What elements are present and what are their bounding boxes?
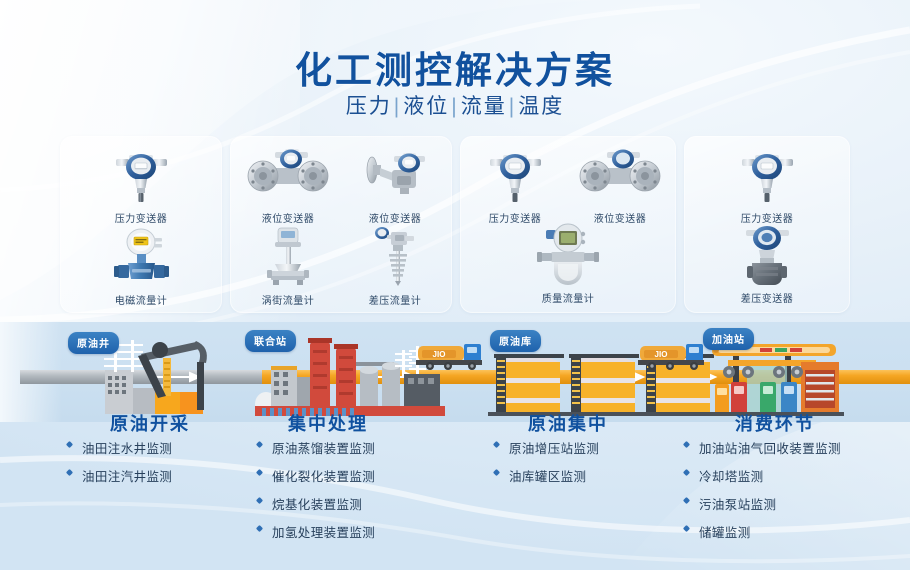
stage-title-collection: 原油集中 — [478, 410, 658, 436]
subtitle-part-pressure: 压力 — [346, 95, 392, 118]
list-item-label: 油田注水井监测 — [82, 438, 172, 457]
list-item[interactable]: 原油蒸馏装置监测 — [256, 438, 375, 457]
product-card-2[interactable]: 液位变送器 — [230, 136, 452, 313]
list-item[interactable]: 储罐监测 — [683, 522, 841, 541]
vortex-flowmeter-icon — [238, 226, 338, 288]
list-item[interactable]: 油田注汽井监测 — [66, 466, 172, 485]
stage-title-extraction: 原油开采 — [60, 410, 240, 436]
product-card-3[interactable]: 压力变送器 — [460, 136, 676, 313]
list-item[interactable]: 油库罐区监测 — [493, 466, 599, 485]
diamond-bullet-icon — [66, 441, 75, 450]
list-item-label: 原油蒸馏装置监测 — [272, 438, 375, 457]
process-flow-illustration: JIO — [0, 322, 910, 422]
pressure-transmitter-icon — [717, 144, 817, 206]
level-transmitter-remote-icon — [345, 144, 445, 206]
diamond-bullet-icon — [256, 525, 265, 534]
stage-badge-gas-station: 加油站 — [703, 328, 754, 350]
pressure-transmitter-icon — [465, 144, 565, 206]
tanker-label: JIO — [655, 350, 668, 359]
product-name: 差压流量计 — [345, 292, 445, 307]
list-item-label: 原油增压站监测 — [509, 438, 599, 457]
list-item-label: 催化裂化装置监测 — [272, 466, 375, 485]
product-vortex-flowmeter[interactable]: 涡街流量计 — [238, 226, 338, 307]
stage-items-processing: 原油蒸馏装置监测 催化裂化装置监测 烷基化装置监测 加氢处理装置监测 — [256, 438, 375, 550]
product-name: 液位变送器 — [345, 210, 445, 225]
list-item[interactable]: 污油泵站监测 — [683, 494, 841, 513]
subtitle-separator: | — [507, 95, 518, 118]
product-differential-pressure-flowmeter[interactable]: 差压流量计 — [345, 226, 445, 307]
list-item-label: 污油泵站监测 — [699, 494, 776, 513]
diamond-bullet-icon — [683, 525, 692, 534]
list-item[interactable]: 原油增压站监测 — [493, 438, 599, 457]
product-name: 压力变送器 — [91, 210, 191, 225]
diamond-bullet-icon — [493, 441, 502, 450]
product-card-4[interactable]: 压力变送器 — [684, 136, 850, 313]
diamond-bullet-icon — [256, 497, 265, 506]
stage-title-consumption: 消费环节 — [685, 410, 865, 436]
diamond-bullet-icon — [256, 441, 265, 450]
product-pressure-transmitter[interactable]: 压力变送器 — [717, 144, 817, 225]
level-transmitter-flanged-icon — [238, 144, 338, 206]
product-name: 差压变送器 — [717, 290, 817, 305]
product-level-transmitter-remote[interactable]: 液位变送器 — [345, 144, 445, 225]
differential-pressure-transmitter-icon — [717, 224, 817, 286]
mass-flowmeter-icon — [518, 224, 618, 286]
list-item-label: 油田注汽井监测 — [82, 466, 172, 485]
subtitle-separator: | — [392, 95, 403, 118]
product-card-1[interactable]: 压力变送器 — [60, 136, 222, 313]
list-item[interactable]: 油田注水井监测 — [66, 438, 172, 457]
subtitle-part-level: 液位 — [403, 95, 449, 118]
stage-badge-union-station: 联合站 — [245, 330, 296, 352]
product-level-transmitter-flanged[interactable]: 液位变送器 — [238, 144, 338, 225]
list-item-label: 加油站油气回收装置监测 — [699, 438, 841, 457]
diamond-bullet-icon — [683, 497, 692, 506]
stage-badge-oil-depot: 原油库 — [490, 330, 541, 352]
list-item[interactable]: 催化裂化装置监测 — [256, 466, 375, 485]
product-name: 电磁流量计 — [91, 292, 191, 307]
stage-items-extraction: 油田注水井监测 油田注汽井监测 — [66, 438, 172, 494]
page-subtitle: 压力|液位|流量|温度 — [0, 90, 910, 120]
product-mass-flowmeter[interactable]: 质量流量计 — [518, 224, 618, 305]
list-item-label: 冷却塔监测 — [699, 466, 764, 485]
solution-infographic: 化工测控解决方案 压力|液位|流量|温度 — [0, 0, 910, 570]
differential-pressure-flowmeter-icon — [345, 226, 445, 288]
list-item-label: 烷基化装置监测 — [272, 494, 362, 513]
list-item-label: 加氢处理装置监测 — [272, 522, 375, 541]
page-title: 化工测控解决方案 — [0, 40, 910, 94]
stage-badge-oil-well: 原油井 — [68, 332, 119, 354]
product-name: 涡街流量计 — [238, 292, 338, 307]
tanker-label: JIO — [433, 350, 446, 359]
list-item-label: 油库罐区监测 — [509, 466, 586, 485]
diamond-bullet-icon — [683, 441, 692, 450]
electromagnetic-flowmeter-icon — [91, 226, 191, 288]
pressure-transmitter-icon — [91, 144, 191, 206]
diamond-bullet-icon — [256, 469, 265, 478]
stage-items-consumption: 加油站油气回收装置监测 冷却塔监测 污油泵站监测 储罐监测 — [683, 438, 841, 550]
list-item[interactable]: 冷却塔监测 — [683, 466, 841, 485]
subtitle-part-flow: 流量 — [461, 95, 507, 118]
product-differential-pressure-transmitter[interactable]: 差压变送器 — [717, 224, 817, 305]
level-transmitter-flanged-icon — [570, 144, 670, 206]
subtitle-part-temperature: 温度 — [518, 95, 564, 118]
product-pressure-transmitter[interactable]: 压力变送器 — [91, 144, 191, 225]
diamond-bullet-icon — [683, 469, 692, 478]
product-name: 质量流量计 — [518, 290, 618, 305]
list-item[interactable]: 烷基化装置监测 — [256, 494, 375, 513]
product-pressure-transmitter[interactable]: 压力变送器 — [465, 144, 565, 225]
stage-items-collection: 原油增压站监测 油库罐区监测 — [493, 438, 599, 494]
subtitle-separator: | — [449, 95, 460, 118]
diamond-bullet-icon — [66, 469, 75, 478]
list-item[interactable]: 加油站油气回收装置监测 — [683, 438, 841, 457]
stage-title-processing: 集中处理 — [238, 410, 418, 436]
tanker-truck: JIO — [416, 344, 482, 370]
product-level-transmitter-flanged[interactable]: 液位变送器 — [570, 144, 670, 225]
product-electromagnetic-flowmeter[interactable]: 电磁流量计 — [91, 226, 191, 307]
product-name: 液位变送器 — [238, 210, 338, 225]
list-item[interactable]: 加氢处理装置监测 — [256, 522, 375, 541]
list-item-label: 储罐监测 — [699, 522, 751, 541]
diamond-bullet-icon — [493, 469, 502, 478]
